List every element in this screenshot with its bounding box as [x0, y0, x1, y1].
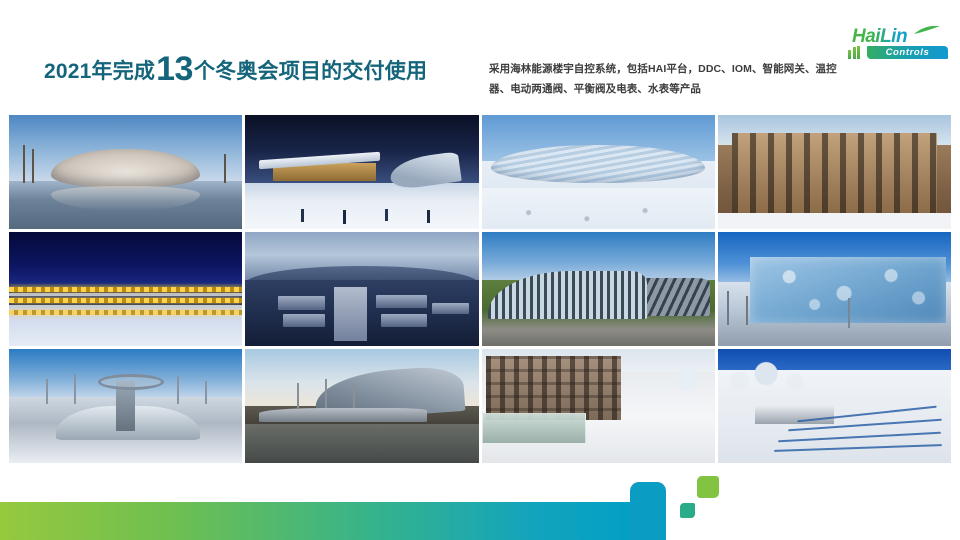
building-block — [381, 314, 428, 327]
building-block — [376, 295, 427, 309]
water-reflection — [245, 424, 478, 463]
gallery-item-photo-10[interactable] — [245, 349, 478, 463]
title-suffix: 个冬奥会项目的交付使用 — [194, 61, 427, 82]
skier-figure — [343, 210, 346, 225]
lamp-post — [46, 379, 48, 404]
window-light-row — [9, 287, 242, 292]
glass-balustrade — [482, 413, 587, 445]
header-description: 采用海林能源楼宇自控系统，包括HAI平台，DDC、IOM、智能网关、温控器、电动… — [489, 59, 841, 99]
gallery-item-photo-7[interactable] — [482, 232, 715, 346]
brand-tagline-bar: Controls — [848, 46, 948, 59]
gallery-item-photo-9[interactable] — [9, 349, 242, 463]
footer-accent-square-green — [697, 476, 719, 498]
gallery-item-photo-4[interactable] — [718, 115, 951, 229]
window-light-row — [9, 310, 242, 315]
central-plaza — [334, 287, 367, 342]
building-block — [432, 303, 469, 314]
lamp-post — [205, 381, 207, 404]
course-lodge — [755, 406, 834, 424]
lamp-post — [353, 383, 355, 408]
gallery-item-photo-3[interactable] — [482, 115, 715, 229]
slide-root: 2021年完成 13 个冬奥会项目的交付使用 采用海林能源楼宇自控系统，包括HA… — [0, 0, 960, 540]
brand-logo: HaiLin Controls — [848, 27, 948, 65]
tree-shape — [32, 149, 34, 183]
lamp-post — [297, 383, 299, 408]
photo-gallery — [9, 115, 951, 463]
tree-shape — [727, 291, 729, 325]
slide-header: 2021年完成 13 个冬奥会项目的交付使用 采用海林能源楼宇自控系统，包括HA… — [0, 0, 960, 112]
tree-shape — [224, 154, 226, 184]
stadium-deck — [259, 408, 427, 422]
title-prefix: 2021年完成 — [44, 61, 155, 82]
gallery-item-photo-5[interactable] — [9, 232, 242, 346]
tree-shape — [23, 145, 25, 184]
tree-shape — [746, 296, 748, 326]
snow-layer — [718, 213, 951, 229]
building-block — [283, 314, 325, 327]
building-block — [278, 296, 325, 310]
brand-tagline: Controls — [867, 46, 948, 59]
brand-wordmark: HaiLin — [852, 27, 907, 46]
frosted-tree — [668, 365, 705, 395]
crowd-layer — [482, 188, 715, 229]
footer-gradient-bar — [0, 502, 648, 540]
lamp-post — [848, 298, 850, 328]
sky-layer — [9, 232, 242, 287]
gallery-item-photo-6[interactable] — [245, 232, 478, 346]
footer-step-base — [636, 510, 666, 540]
ground-layer — [245, 183, 478, 229]
skier-figure — [301, 209, 304, 223]
frosted-forest — [718, 358, 825, 397]
skier-figure — [385, 209, 388, 222]
oval-arena-shape — [491, 145, 706, 184]
title-highlight-number: 13 — [155, 52, 194, 86]
gallery-item-photo-8[interactable] — [718, 232, 951, 346]
leaf-swoosh-icon — [914, 26, 940, 35]
page-title: 2021年完成 13 个冬奥会项目的交付使用 — [44, 50, 427, 84]
lamp-post — [177, 376, 179, 403]
footer-accent-square-teal — [680, 503, 695, 518]
lamp-post — [74, 374, 76, 404]
skier-figure — [427, 210, 430, 224]
gallery-item-photo-1[interactable] — [9, 115, 242, 229]
ground-layer — [9, 284, 242, 346]
window-light-row — [9, 298, 242, 303]
gallery-item-photo-2[interactable] — [245, 115, 478, 229]
hotel-facade — [732, 133, 937, 213]
gallery-item-photo-12[interactable] — [718, 349, 951, 463]
slide-footer — [0, 462, 960, 540]
bars-icon — [848, 46, 865, 59]
lamp-post — [325, 379, 327, 409]
gallery-item-photo-11[interactable] — [482, 349, 715, 463]
apartment-block — [486, 356, 621, 420]
